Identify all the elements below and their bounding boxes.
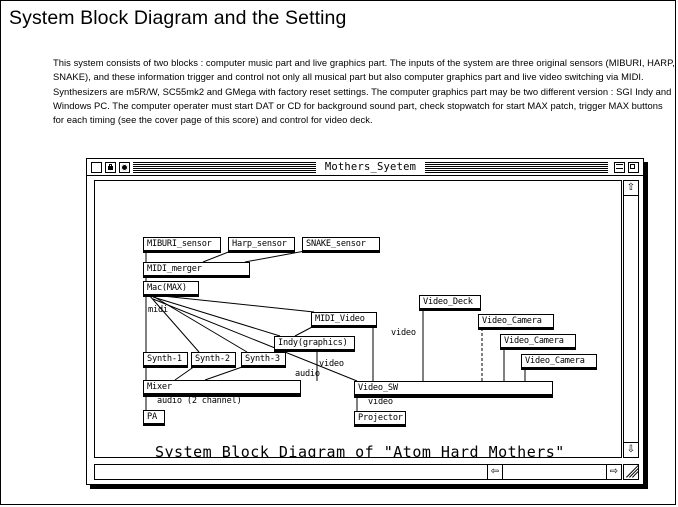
comment-audio: audio: [295, 369, 320, 379]
close-box-icon[interactable]: [91, 162, 102, 173]
window-shadow-bottom: [90, 485, 648, 489]
window-grow-box-icon[interactable]: [628, 162, 639, 173]
scroll-left-arrow-icon[interactable]: ⇦: [487, 465, 503, 479]
obj-midi-merger[interactable]: MIDI_merger: [143, 262, 250, 276]
obj-mac-max[interactable]: Mac(MAX): [143, 281, 199, 295]
titlebar-right-buttons[interactable]: [611, 162, 639, 173]
titlebar-stripes-right: [425, 162, 608, 173]
body-paragraph: This system consists of two blocks : com…: [53, 56, 675, 127]
patcher-canvas[interactable]: MIBURI_sensor Harp_sensor SNAKE_sensor M…: [94, 180, 622, 458]
obj-video-camera-2[interactable]: Video_Camera: [500, 334, 576, 348]
obj-pa[interactable]: PA: [143, 410, 165, 424]
obj-synth-1[interactable]: Synth-1: [143, 352, 188, 366]
obj-synth-3[interactable]: Synth-3: [241, 352, 286, 366]
comment-video-projector: video: [368, 397, 393, 407]
comment-midi: midi: [148, 305, 168, 315]
obj-midi-video[interactable]: MIDI_Video: [311, 312, 377, 326]
comment-video-deck: video: [391, 328, 416, 338]
obj-miburi-sensor[interactable]: MIBURI_sensor: [143, 237, 221, 251]
scroll-up-arrow-icon[interactable]: ⇧: [624, 181, 638, 196]
horizontal-scrollbar[interactable]: ⇦ ⇨: [94, 464, 622, 480]
obj-snake-sensor[interactable]: SNAKE_sensor: [302, 237, 380, 251]
obj-mixer[interactable]: Mixer: [143, 380, 301, 394]
gear-icon[interactable]: [119, 162, 130, 173]
page-frame: System Block Diagram and the Setting Thi…: [0, 0, 676, 505]
obj-indy-graphics[interactable]: Indy(graphics): [274, 336, 355, 350]
patcher-window[interactable]: Mothers_Syetem: [86, 158, 644, 485]
comment-audio-2-channel: audio (2 channel): [157, 396, 242, 406]
titlebar-stripes-left: [133, 162, 316, 173]
resize-grip-icon[interactable]: [623, 464, 639, 480]
window-titlebar[interactable]: Mothers_Syetem: [87, 159, 643, 176]
obj-video-deck[interactable]: Video_Deck: [419, 295, 481, 309]
obj-video-camera-1[interactable]: Video_Camera: [478, 314, 554, 328]
obj-video-camera-3[interactable]: Video_Camera: [521, 354, 597, 368]
window-stack-box-icon[interactable]: [614, 162, 625, 173]
vertical-scrollbar[interactable]: ⇧ ⇩: [623, 180, 639, 458]
obj-harp-sensor[interactable]: Harp_sensor: [228, 237, 295, 251]
diagram-caption: System Block Diagram of "Atom Hard Mothe…: [155, 443, 565, 458]
page-title: System Block Diagram and the Setting: [9, 7, 346, 30]
scroll-right-arrow-icon[interactable]: ⇨: [606, 465, 621, 479]
obj-projector[interactable]: Projector: [354, 411, 406, 425]
patcher-canvas-inner: MIBURI_sensor Harp_sensor SNAKE_sensor M…: [95, 181, 622, 458]
obj-synth-2[interactable]: Synth-2: [191, 352, 236, 366]
scroll-down-arrow-icon[interactable]: ⇩: [624, 442, 638, 457]
obj-video-sw[interactable]: Video_SW: [354, 381, 553, 395]
lock-icon[interactable]: [105, 162, 116, 173]
window-title: Mothers_Syetem: [319, 161, 422, 173]
comment-video-indy: video: [319, 359, 344, 369]
window-shadow-right: [644, 162, 648, 488]
